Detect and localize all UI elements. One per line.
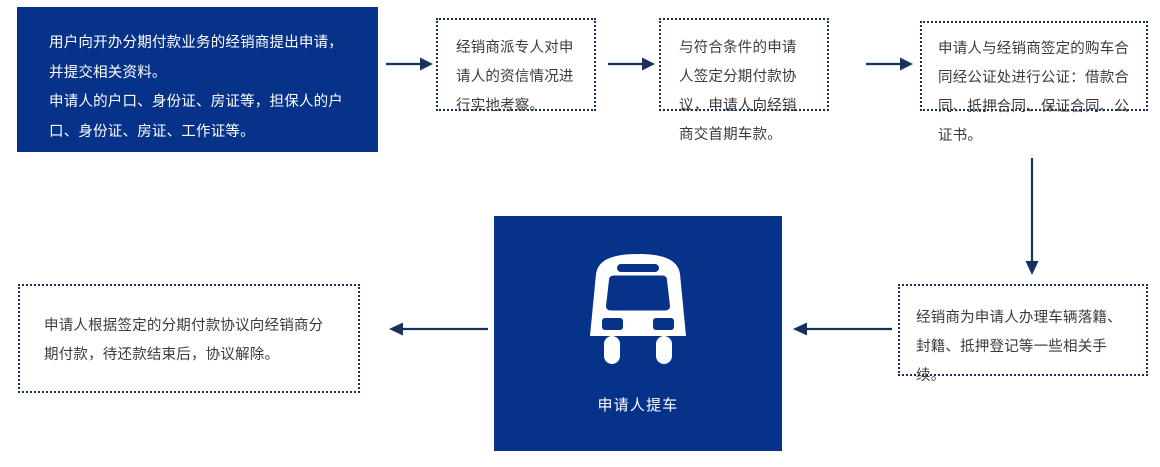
arrow-pickup-to-repayment bbox=[388, 320, 488, 338]
flow-node-label: 申请人提车 bbox=[597, 394, 678, 415]
flow-node-text: 与符合条件的申请人签定分期付款协议，申请人向经销商交首期车款。 bbox=[679, 34, 811, 150]
flow-node-text: 经销商为申请人办理车辆落籍、封籍、抵押登记等一些相关手续。 bbox=[916, 304, 1130, 391]
flowchart-canvas: 用户向开办分期付款业务的经销商提出申请，并提交相关资料。 申请人的户口、身份证、… bbox=[0, 0, 1160, 467]
arrow-notary-to-registration bbox=[1022, 158, 1042, 276]
flow-node-customer-picks-up-car[interactable]: 申请人提车 bbox=[494, 216, 782, 451]
flow-node-installment-repayment[interactable]: 申请人根据签定的分期付款协议向经销商分期付款，待还款结束后，协议解除。 bbox=[18, 284, 360, 393]
arrow-intro-to-survey bbox=[386, 55, 434, 73]
flow-node-text: 经销商派专人对申请人的资信情况进行实地考察。 bbox=[456, 34, 576, 121]
flow-node-vehicle-registration[interactable]: 经销商为申请人办理车辆落籍、封籍、抵押登记等一些相关手续。 bbox=[898, 284, 1148, 376]
arrow-registration-to-pickup bbox=[792, 320, 892, 338]
arrow-agreement-to-notary bbox=[866, 55, 914, 73]
flow-node-application-submit[interactable]: 用户向开办分期付款业务的经销商提出申请，并提交相关资料。 申请人的户口、身份证、… bbox=[17, 7, 378, 152]
flow-node-text: 用户向开办分期付款业务的经销商提出申请，并提交相关资料。 申请人的户口、身份证、… bbox=[49, 29, 352, 148]
flow-node-contract-notarization[interactable]: 申请人与经销商签定的购车合同经公证处进行公证：借款合同、抵押合同、保证合同、公证… bbox=[920, 21, 1148, 111]
flow-node-text: 申请人根据签定的分期付款协议向经销商分期付款，待还款结束后，协议解除。 bbox=[44, 312, 336, 370]
flow-node-text: 申请人与经销商签定的购车合同经公证处进行公证：借款合同、抵押合同、保证合同、公证… bbox=[938, 35, 1132, 151]
bus-icon bbox=[586, 252, 690, 370]
flow-node-credit-investigation[interactable]: 经销商派专人对申请人的资信情况进行实地考察。 bbox=[436, 18, 596, 111]
flow-node-sign-installment-agreement[interactable]: 与符合条件的申请人签定分期付款协议，申请人向经销商交首期车款。 bbox=[659, 18, 829, 111]
arrow-survey-to-agreement bbox=[608, 55, 656, 73]
